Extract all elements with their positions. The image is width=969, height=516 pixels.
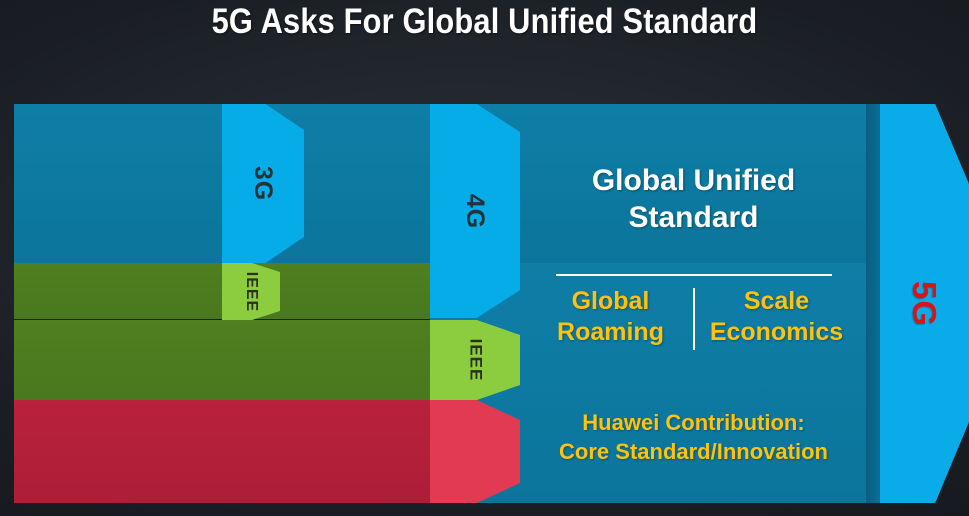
benefit-global-roaming-line-1: Global xyxy=(535,286,687,317)
arrow-5g-label: 5G xyxy=(906,280,944,326)
arrow-ieee-wlan-label: IEEE xyxy=(465,339,485,382)
benefit-scale-economics: Scale Economics xyxy=(701,286,853,348)
huawei-contribution-note: Huawei Contribution: Core Standard/Innov… xyxy=(520,408,867,466)
arrow-other-industries xyxy=(430,400,520,503)
benefit-scale-economics-line-2: Economics xyxy=(701,317,853,348)
benefit-global-roaming: Global Roaming xyxy=(535,286,687,348)
panel-heading: Global Unified Standard xyxy=(520,162,867,236)
benefits-row: Global Roaming Scale Economics xyxy=(520,286,867,364)
arrow-3g: 3G xyxy=(222,104,304,263)
arrow-5g-label-wrap: 5G xyxy=(880,104,969,503)
slide-canvas: 5G Asks For Global Unified Standard WCDM… xyxy=(0,0,969,516)
benefits-vertical-divider xyxy=(693,288,695,350)
arrow-3g-label: 3G xyxy=(248,166,277,201)
arrow-4g: 4G xyxy=(430,104,520,318)
arrow-ieee-wimax: IEEE xyxy=(222,263,280,320)
arrow-5g-side-edge xyxy=(866,104,880,503)
page-title: 5G Asks For Global Unified Standard xyxy=(58,2,911,42)
huawei-contribution-line-2: Core Standard/Innovation xyxy=(520,437,867,466)
huawei-contribution-line-1: Huawei Contribution: xyxy=(520,408,867,437)
panel-heading-line-1: Global Unified xyxy=(520,162,867,199)
arrow-ieee-wimax-label: IEEE xyxy=(242,271,260,311)
benefit-scale-economics-line-1: Scale xyxy=(701,286,853,317)
arrow-ieee-wlan: IEEE xyxy=(430,320,520,400)
panel-heading-line-2: Standard xyxy=(520,199,867,236)
arrow-5g: 5G xyxy=(880,104,969,503)
standards-evolution-diagram: WCDMA EV-DO TD-SCDMA 3G LTE-FDD LTE-TDD … xyxy=(14,104,955,503)
arrow-ieee-wimax-label-wrap: IEEE xyxy=(222,263,288,320)
panel-divider-rule xyxy=(556,274,832,276)
arrow-4g-label: 4G xyxy=(460,193,489,228)
benefit-global-roaming-line-2: Roaming xyxy=(535,317,687,348)
global-unified-standard-panel: Global Unified Standard Global Roaming S… xyxy=(520,104,867,503)
